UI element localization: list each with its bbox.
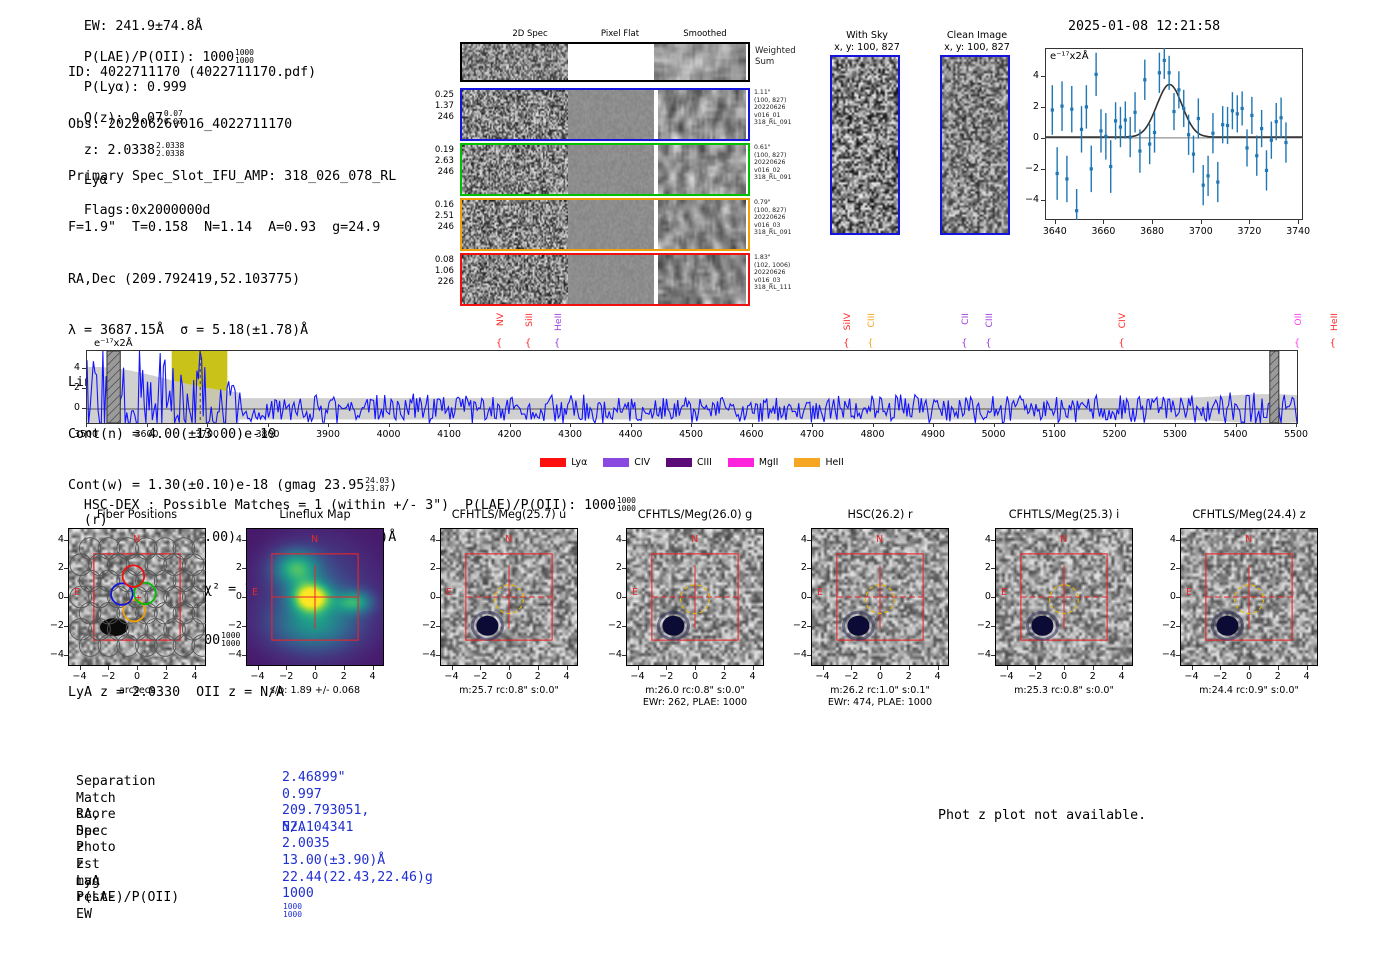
line-fit-flux-unit: e⁻¹⁷x2Å <box>1050 51 1089 62</box>
spec2d-exposure-row <box>460 198 750 251</box>
spec2d-exposure-row <box>460 88 750 141</box>
cutout-title: CFHTLS/Meg(25.3) i <box>965 508 1163 521</box>
compass-east-label: E <box>817 587 823 598</box>
table-row-value: 13.00(±3.90)Å <box>282 853 385 870</box>
cutout-ytick-mark <box>991 597 995 598</box>
sky-thumbnail-caption: With Skyx, y: 100, 827 <box>812 30 922 53</box>
cutout-xtick-label: 2 <box>893 671 925 682</box>
sky-thumbnails: With Skyx, y: 100, 827Clean Imagex, y: 1… <box>820 30 1040 250</box>
cutout-image-image[interactable] <box>626 528 764 666</box>
cutout-xtick-label: −4 <box>1176 671 1208 682</box>
full-spectrum-xtick-label: 3500 <box>66 429 106 440</box>
sky-thumbnail-title: Clean Image <box>922 30 1032 42</box>
line-fit-xtick-mark <box>1103 220 1104 224</box>
spec2d-row-meta: 0.61"(100, 827)20220626v016_02318_RL_091 <box>754 144 814 182</box>
cutout-ytick-mark <box>242 540 246 541</box>
full-spectrum-xtick-label: 4000 <box>369 429 409 440</box>
spec2d-row-meta-line: v016_03 <box>754 222 814 230</box>
table-row-key: Separation <box>76 774 155 791</box>
info-seeing: F=1.9" T=0.158 N=1.14 A=0.93 g=24.9 <box>68 219 397 236</box>
line-fit-xtick-label: 3720 <box>1233 226 1265 237</box>
cutout-ytick-label: −4 <box>44 649 64 660</box>
cutout-xtick-mark <box>666 666 667 670</box>
spec2d-raw-image <box>462 90 568 139</box>
cutout-xtick-label: 4 <box>357 671 389 682</box>
cutout-image-image[interactable] <box>811 528 949 666</box>
spectrum-legend-label: HeII <box>825 457 843 468</box>
cutout-ytick-label: 0 <box>416 591 436 602</box>
spec2d-row-meta-line: 20220626 <box>754 159 814 167</box>
cutout-ytick-label: −2 <box>971 620 991 631</box>
spec2d-row-meta-line: 20220626 <box>754 269 814 277</box>
spec2d-row-meta: 1.11"(100, 827)20220626v016_01318_RL_091 <box>754 89 814 127</box>
line-fit-ytick-label: 2 <box>1019 101 1039 112</box>
cutout-ytick-mark <box>242 597 246 598</box>
spec2d-row-meta-line: 318_RL_111 <box>754 284 814 292</box>
cutout-xtick-mark <box>1192 666 1193 670</box>
cutout-footer-line2: EWr: 474, PLAE: 1000 <box>779 697 981 709</box>
emission-line-bracket: { <box>843 338 849 349</box>
cutout-xtick-label: 0 <box>299 671 331 682</box>
cutout-ytick-mark <box>807 540 811 541</box>
full-spectrum-xtick-label: 4400 <box>611 429 651 440</box>
full-spectrum-xtick-mark <box>933 423 934 427</box>
header-timestamp: 2025-01-08 12:21:58 <box>1068 19 1220 34</box>
cutout-xtick-label: 0 <box>679 671 711 682</box>
compass-north-label: N <box>1245 534 1252 545</box>
cutout-footer: m:25.7 rc:0.8" s:0.0" <box>408 685 610 697</box>
table-row-value: 2.0035 <box>282 836 330 853</box>
cutout-xtick-mark <box>938 666 939 670</box>
table-row-value: 0.997 <box>282 787 322 804</box>
spec2d-row-meta: 1.83"(102, 1006)20220626v016_03318_RL_11… <box>754 254 814 292</box>
cutout-xtick-mark <box>258 666 259 670</box>
cutout-ytick-label: 0 <box>1156 591 1176 602</box>
cutout-ytick-label: 0 <box>971 591 991 602</box>
cutout-title: CFHTLS/Meg(25.7) u <box>410 508 608 521</box>
cutout-image-image[interactable] <box>995 528 1133 666</box>
cutout-ytick-label: −2 <box>787 620 807 631</box>
spec2d-raw-image <box>462 255 568 304</box>
cutout-xtick-mark <box>195 666 196 670</box>
spec2d-row-meta-line: v016_02 <box>754 167 814 175</box>
cutout-footer-line1: m:24.4 rc:0.9" s:0.0" <box>1148 685 1350 697</box>
full-spectrum-xtick-mark <box>1115 423 1116 427</box>
table-row-value: 2.46899" <box>282 770 346 787</box>
cutout-ytick-label: 4 <box>1156 534 1176 545</box>
full-spectrum-xtick-mark <box>268 423 269 427</box>
cutout-ytick-label: −2 <box>602 620 622 631</box>
line-fit-ytick-label: −4 <box>1019 194 1039 205</box>
spec2d-row-meta-line: (100, 827) <box>754 207 814 215</box>
emission-line-label: HeII <box>1329 313 1340 331</box>
cutout-xtick-mark <box>452 666 453 670</box>
spectrum-legend-label: Lyα <box>571 457 587 468</box>
full-spectrum-xtick-label: 5500 <box>1276 429 1316 440</box>
emission-line-bracket: { <box>525 338 531 349</box>
cutout-ytick-label: 2 <box>44 562 64 573</box>
cutout-ytick-mark <box>64 626 68 627</box>
cutout-ytick-label: −2 <box>44 620 64 631</box>
full-spectrum-xtick-mark <box>207 423 208 427</box>
cutout-ytick-label: 2 <box>787 562 807 573</box>
emission-line-bracket: { <box>1330 338 1336 349</box>
cutout-ytick-label: −4 <box>971 649 991 660</box>
cutout-xtick-mark <box>80 666 81 670</box>
line-fit-ytick-mark <box>1041 200 1045 201</box>
spectrum-legend-label: CIII <box>697 457 712 468</box>
spec2d-smoothed-image <box>658 200 746 249</box>
full-spectrum-masked-region <box>107 351 120 423</box>
line-fit-xtick-label: 3660 <box>1087 226 1119 237</box>
emission-line-bracket: { <box>496 338 502 349</box>
cutout-footer: m:26.0 rc:0.8" s:0.0"EWr: 262, PLAE: 100… <box>594 685 796 709</box>
full-spectrum-xtick-mark <box>1054 423 1055 427</box>
emission-line-bracket: { <box>554 338 560 349</box>
full-spectrum-xtick-label: 5100 <box>1034 429 1074 440</box>
line-fit-ytick-mark <box>1041 107 1045 108</box>
cutout-ytick-label: 2 <box>222 562 242 573</box>
spec2d-row-stat: 246 <box>422 167 454 178</box>
table-row-key: mag <box>76 874 100 891</box>
spec2d-column-title: Pixel Flat <box>580 29 660 39</box>
compass-east-label: E <box>1001 587 1007 598</box>
cutout-ytick-mark <box>436 540 440 541</box>
cutout-ytick-mark <box>991 655 995 656</box>
spec2d-row-stat: 2.63 <box>422 156 454 167</box>
spec2d-row-stat: 1.37 <box>422 101 454 112</box>
full-spectrum-xtick-mark <box>691 423 692 427</box>
emission-line-label: HeII <box>553 313 564 331</box>
cutout-footer: s/b: 1.89 +/- 0.068 <box>214 685 416 697</box>
full-spectrum-masked-region <box>1270 351 1279 423</box>
spec2d-row-stat: 2.51 <box>422 211 454 222</box>
emission-line-bracket: { <box>961 338 967 349</box>
full-spectrum-xtick-label: 4900 <box>913 429 953 440</box>
full-spectrum-xtick-mark <box>631 423 632 427</box>
cutout-ytick-label: 0 <box>602 591 622 602</box>
cutout-ytick-mark <box>991 626 995 627</box>
spec2d-row-meta-line: 1.83" <box>754 254 814 262</box>
cutout-ytick-mark <box>1176 655 1180 656</box>
cutout-ytick-label: 0 <box>222 591 242 602</box>
cutout-ytick-label: 2 <box>416 562 436 573</box>
cutout-ytick-label: 2 <box>971 562 991 573</box>
cutout-xtick-label: 0 <box>1048 671 1080 682</box>
spec2d-pixel-flat-image <box>568 145 654 194</box>
cutout-title: HSC(26.2) r <box>781 508 979 521</box>
cutout-xtick-label: −2 <box>1204 671 1236 682</box>
full-spectrum-xtick-label: 5400 <box>1216 429 1256 440</box>
full-spectrum-xtick-mark <box>1175 423 1176 427</box>
full-spectrum-ytick-label: 2 <box>62 382 80 393</box>
emission-line-label: SiII <box>524 313 535 327</box>
spec2d-row-stats: 0.081.06226 <box>422 255 454 288</box>
spec2d-row-stat: 246 <box>422 112 454 123</box>
spec2d-row-stats: 0.192.63246 <box>422 145 454 178</box>
spec2d-column-title: 2D Spec <box>490 29 570 39</box>
compass-east-label: E <box>1186 587 1192 598</box>
cutout-xtick-mark <box>108 666 109 670</box>
cutout-xtick-mark <box>851 666 852 670</box>
table-row-value-text: 1000 <box>282 886 314 901</box>
full-spectrum-xtick-label: 5300 <box>1155 429 1195 440</box>
full-spectrum-xtick-label: 3600 <box>127 429 167 440</box>
cutout-ytick-mark <box>622 540 626 541</box>
cutout-xtick-mark <box>1035 666 1036 670</box>
cutout-xtick-mark <box>315 666 316 670</box>
line-fit-xtick-mark <box>1152 220 1153 224</box>
spec2d-raw-image <box>462 145 568 194</box>
cutout-ytick-mark <box>64 597 68 598</box>
cutout-row: Fiber Positions+NE−4−2024−4−2024arcsecsL… <box>0 500 1400 730</box>
spec2d-row-meta-line: 20220626 <box>754 214 814 222</box>
full-spectrum-ytick-mark <box>82 408 86 409</box>
spec2d-column-title: Smoothed <box>665 29 745 39</box>
sky-thumbnail-caption: Clean Imagex, y: 100, 827 <box>922 30 1032 53</box>
cutout-xtick-mark <box>1093 666 1094 670</box>
cutout-xtick-label: −4 <box>436 671 468 682</box>
cutout-footer: m:26.2 rc:1.0" s:0.1"EWr: 474, PLAE: 100… <box>779 685 981 709</box>
cutout-xtick-mark <box>1220 666 1221 670</box>
spec2d-row-meta-line: v016_03 <box>754 277 814 285</box>
cutout-xtick-label: 4 <box>1106 671 1138 682</box>
cutout-xtick-mark <box>880 666 881 670</box>
spec2d-row-meta-line: 1.11" <box>754 89 814 97</box>
compass-north-label: N <box>876 534 883 545</box>
full-spectrum-ytick-mark <box>82 368 86 369</box>
cutout-xtick-label: −2 <box>270 671 302 682</box>
cutout-ytick-mark <box>64 655 68 656</box>
spectrum-legend-swatch <box>728 458 754 467</box>
spec2d-exposure-row <box>460 253 750 306</box>
cutout-xtick-mark <box>1007 666 1008 670</box>
cutout-xtick-mark <box>1249 666 1250 670</box>
cutout-ytick-label: 2 <box>602 562 622 573</box>
cutout-image-fibers[interactable] <box>68 528 206 666</box>
cutout-xtick-label: 0 <box>121 671 153 682</box>
cutout-footer: m:25.3 rc:0.8" s:0.0" <box>963 685 1165 697</box>
full-spectrum-canvas <box>86 350 1298 424</box>
cutout-ytick-label: −2 <box>1156 620 1176 631</box>
spec2d-row-meta-line: 318_RL_091 <box>754 119 814 127</box>
cutout-title: Lineflux Map <box>216 508 414 521</box>
cutout-footer-line1: m:26.0 rc:0.8" s:0.0" <box>594 685 796 697</box>
sky-thumbnail-coords: x, y: 100, 827 <box>922 42 1032 54</box>
cutout-xtick-mark <box>166 666 167 670</box>
full-spectrum-ytick-label: 0 <box>62 402 80 413</box>
spec2d-row-meta-line: 0.61" <box>754 144 814 152</box>
spectrum-legend: LyαCIVCIIIMgIIHeII <box>0 452 1400 471</box>
full-spectrum-xtick-mark <box>1236 423 1237 427</box>
spec2d-pixel-flat-image <box>568 255 654 304</box>
emission-line-label: CII <box>960 313 971 325</box>
compass-east-label: E <box>446 587 452 598</box>
table-row-value: N/A <box>282 820 306 837</box>
full-spectrum-xtick-label: 4300 <box>550 429 590 440</box>
cutout-footer: m:24.4 rc:0.9" s:0.0" <box>1148 685 1350 697</box>
cutout-xtick-mark <box>509 666 510 670</box>
cutout-xtick-mark <box>638 666 639 670</box>
sky-thumbnail-coords: x, y: 100, 827 <box>812 42 922 54</box>
cutout-ytick-mark <box>991 540 995 541</box>
cutout-ytick-mark <box>1176 568 1180 569</box>
clean-image <box>940 55 1010 235</box>
emission-line-label: OII <box>1293 313 1304 326</box>
cutout-ytick-mark <box>622 626 626 627</box>
cutout-ytick-mark <box>1176 626 1180 627</box>
cutout-footer-line1: m:26.2 rc:1.0" s:0.1" <box>779 685 981 697</box>
cutout-footer-line1: s/b: 1.89 +/- 0.068 <box>214 685 416 697</box>
full-spectrum-xtick-label: 3800 <box>248 429 288 440</box>
cutout-xtick-label: 4 <box>551 671 583 682</box>
cutout-ytick-label: −2 <box>416 620 436 631</box>
cutout-xtick-mark <box>344 666 345 670</box>
compass-north-label: N <box>133 534 140 545</box>
full-spectrum-xtick-label: 3700 <box>187 429 227 440</box>
cutout-xtick-mark <box>1307 666 1308 670</box>
compass-north-label: N <box>505 534 512 545</box>
cutout-title: CFHTLS/Meg(26.0) g <box>596 508 794 521</box>
cutout-xtick-label: 2 <box>708 671 740 682</box>
full-spectrum-xtick-label: 4100 <box>429 429 469 440</box>
info-primary-spec: Primary Spec_Slot_IFU_AMP: 318_026_078_R… <box>68 168 397 185</box>
cutout-xtick-mark <box>137 666 138 670</box>
cutout-footer: arcsecs <box>36 685 238 697</box>
cutout-xtick-mark <box>909 666 910 670</box>
spec2d-smoothed-image <box>658 255 746 304</box>
cutout-xtick-label: 2 <box>150 671 182 682</box>
spectrum-legend-swatch <box>603 458 629 467</box>
emission-line-label: CIII <box>984 313 995 328</box>
cutout-xtick-mark <box>538 666 539 670</box>
spec2d-row-meta-line: v016_01 <box>754 112 814 120</box>
spec2d-row-stat: 0.25 <box>422 90 454 101</box>
cutout-ytick-label: 0 <box>44 591 64 602</box>
cutout-ytick-mark <box>242 655 246 656</box>
cutout-title: CFHTLS/Meg(24.4) z <box>1150 508 1348 521</box>
full-spectrum-xtick-label: 4700 <box>792 429 832 440</box>
compass-north-label: N <box>1060 534 1067 545</box>
cutout-xtick-label: −2 <box>92 671 124 682</box>
spec2d-weighted-sum-image <box>462 44 568 80</box>
cutout-ytick-label: 4 <box>416 534 436 545</box>
spectrum-legend-label: CIV <box>634 457 650 468</box>
sky-thumbnail-title: With Sky <box>812 30 922 42</box>
full-spectrum-xtick-mark <box>449 423 450 427</box>
cutout-image-image[interactable] <box>440 528 578 666</box>
emission-line-bracket: { <box>867 338 873 349</box>
line-fit-plot: e⁻¹⁷x2Å364036603680370037203740−4−2024 <box>1045 48 1313 250</box>
cutout-xtick-label: 2 <box>1077 671 1109 682</box>
table-row-key: P(LAE)/P(OII) <box>76 890 179 907</box>
cutout-xtick-label: −4 <box>991 671 1023 682</box>
spec2d-weighted-sum-row <box>460 42 750 82</box>
spec2d-pixel-flat-image <box>568 200 654 249</box>
cutout-ytick-mark <box>807 655 811 656</box>
cutout-xtick-mark <box>1278 666 1279 670</box>
cutout-ytick-label: 4 <box>602 534 622 545</box>
cutout-ytick-mark <box>436 655 440 656</box>
cutout-image-heatmap[interactable] <box>246 528 384 666</box>
spectrum-legend-swatch <box>666 458 692 467</box>
cutout-xtick-label: 2 <box>328 671 360 682</box>
line-fit-canvas <box>1045 48 1303 220</box>
cutout-xtick-label: 4 <box>1291 671 1323 682</box>
cutout-ytick-mark <box>436 626 440 627</box>
spec2d-row-meta-line: 318_RL_091 <box>754 174 814 182</box>
cutout-ytick-mark <box>64 568 68 569</box>
cutout-xtick-label: 2 <box>1262 671 1294 682</box>
cutout-xtick-label: 4 <box>179 671 211 682</box>
cutout-xtick-label: −4 <box>242 671 274 682</box>
cutout-footer-line1: m:25.7 rc:0.8" s:0.0" <box>408 685 610 697</box>
cutout-ytick-label: −4 <box>602 649 622 660</box>
table-row-value: 100010001000 <box>282 886 314 920</box>
cutout-xtick-label: −4 <box>64 671 96 682</box>
spec2d-raw-image <box>462 200 568 249</box>
table-row-value-fraction: 10001000 <box>283 903 302 919</box>
full-spectrum-xtick-mark <box>570 423 571 427</box>
cutout-xtick-mark <box>753 666 754 670</box>
line-fit-ytick-mark <box>1041 169 1045 170</box>
cutout-ytick-label: 4 <box>971 534 991 545</box>
full-spectrum-xtick-mark <box>994 423 995 427</box>
ws-l1: Weighted <box>755 46 796 56</box>
spec2d-row-meta-line: (100, 827) <box>754 97 814 105</box>
emission-line-bracket: { <box>1294 338 1300 349</box>
cutout-xtick-label: 4 <box>737 671 769 682</box>
cutout-xtick-label: 0 <box>1233 671 1265 682</box>
compass-north-label: N <box>311 534 318 545</box>
cutout-image-image[interactable] <box>1180 528 1318 666</box>
full-spectrum-xtick-label: 5000 <box>974 429 1014 440</box>
line-fit-ytick-mark <box>1041 138 1045 139</box>
cutout-ytick-mark <box>622 568 626 569</box>
cutout-xtick-mark <box>695 666 696 670</box>
cutout-ytick-mark <box>436 568 440 569</box>
full-spectrum-xtick-label: 4600 <box>732 429 772 440</box>
spec2d-weighted-sum-smoothed <box>654 44 746 80</box>
line-fit-xtick-mark <box>1201 220 1202 224</box>
cutout-ytick-label: 4 <box>222 534 242 545</box>
line-fit-ytick-label: 0 <box>1019 132 1039 143</box>
cutout-ytick-mark <box>242 626 246 627</box>
full-spectrum-xtick-mark <box>389 423 390 427</box>
info-id: ID: 4022711170 (4022711170.pdf) <box>68 64 397 81</box>
full-spectrum-xtick-mark <box>510 423 511 427</box>
spec2d-row-stats: 0.251.37246 <box>422 90 454 123</box>
cutout-ytick-mark <box>64 540 68 541</box>
cutout-ytick-mark <box>436 597 440 598</box>
cutout-ytick-label: −2 <box>222 620 242 631</box>
full-spectrum-xtick-mark <box>812 423 813 427</box>
cutout-footer-line1: m:25.3 rc:0.8" s:0.0" <box>963 685 1165 697</box>
spec2d-row-meta-line: (100, 827) <box>754 152 814 160</box>
full-spectrum-xtick-mark <box>752 423 753 427</box>
cutout-ytick-mark <box>807 626 811 627</box>
cutout-xtick-mark <box>373 666 374 670</box>
line-fit-xtick-label: 3700 <box>1185 226 1217 237</box>
cutout-xtick-mark <box>1064 666 1065 670</box>
spectrum-legend-swatch <box>794 458 820 467</box>
line-fit-xtick-mark <box>1055 220 1056 224</box>
spec2d-row-meta-line: 20220626 <box>754 104 814 112</box>
spec2d-row-meta: 0.79"(100, 827)20220626v016_03318_RL_091 <box>754 199 814 237</box>
spec2d-row-stat: 0.16 <box>422 200 454 211</box>
full-spectrum-xtick-mark <box>873 423 874 427</box>
info-radec: RA,Dec (209.792419,52.103775) <box>68 271 397 288</box>
